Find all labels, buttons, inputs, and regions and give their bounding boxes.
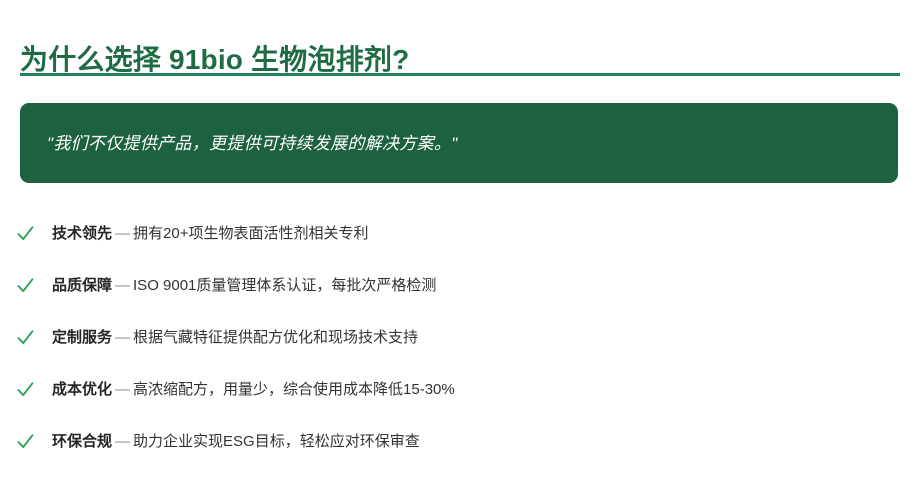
list-item-term: 技术领先 [52, 225, 112, 242]
quote-text: "我们不仅提供产品，更提供可持续发展的解决方案。" [47, 132, 458, 156]
list-item-text: 品质保障—ISO 9001质量管理体系认证，每批次严格检测 [52, 275, 436, 297]
list-item-dash: — [112, 329, 133, 346]
list-item-desc: 根据气藏特征提供配方优化和现场技术支持 [133, 329, 418, 346]
list-item-desc: ISO 9001质量管理体系认证，每批次严格检测 [133, 277, 436, 294]
list-item-term: 定制服务 [52, 329, 112, 346]
list-item-term: 品质保障 [52, 277, 112, 294]
list-item-dash: — [112, 225, 133, 242]
list-item-dash: — [112, 433, 133, 450]
list-item-text: 环保合规—助力企业实现ESG目标，轻松应对环保审查 [52, 431, 420, 453]
quote-callout: "我们不仅提供产品，更提供可持续发展的解决方案。" [20, 103, 898, 183]
list-item: 技术领先—拥有20+项生物表面活性剂相关专利 [0, 208, 919, 260]
check-icon [17, 434, 34, 451]
check-icon [17, 278, 34, 295]
list-item: 成本优化—高浓缩配方，用量少，综合使用成本降低15-30% [0, 364, 919, 416]
check-icon [17, 226, 34, 243]
list-item-term: 成本优化 [52, 381, 112, 398]
list-item-dash: — [112, 277, 133, 294]
list-item-desc: 拥有20+项生物表面活性剂相关专利 [133, 225, 368, 242]
list-item-dash: — [112, 381, 133, 398]
check-icon [17, 382, 34, 399]
list-item-text: 成本优化—高浓缩配方，用量少，综合使用成本降低15-30% [52, 379, 455, 401]
list-item: 定制服务—根据气藏特征提供配方优化和现场技术支持 [0, 312, 919, 364]
list-item: 环保合规—助力企业实现ESG目标，轻松应对环保审查 [0, 416, 919, 468]
advantages-list: 技术领先—拥有20+项生物表面活性剂相关专利 品质保障—ISO 9001质量管理… [0, 208, 919, 468]
list-item-desc: 高浓缩配方，用量少，综合使用成本降低15-30% [133, 381, 455, 398]
check-icon [17, 330, 34, 347]
heading-divider [20, 73, 900, 76]
list-item-text: 技术领先—拥有20+项生物表面活性剂相关专利 [52, 223, 368, 245]
list-item: 品质保障—ISO 9001质量管理体系认证，每批次严格检测 [0, 260, 919, 312]
why-choose-section: 为什么选择 91bio 生物泡排剂? "我们不仅提供产品，更提供可持续发展的解决… [0, 0, 919, 486]
list-item-term: 环保合规 [52, 433, 112, 450]
list-item-desc: 助力企业实现ESG目标，轻松应对环保审查 [133, 433, 420, 450]
list-item-text: 定制服务—根据气藏特征提供配方优化和现场技术支持 [52, 327, 418, 349]
